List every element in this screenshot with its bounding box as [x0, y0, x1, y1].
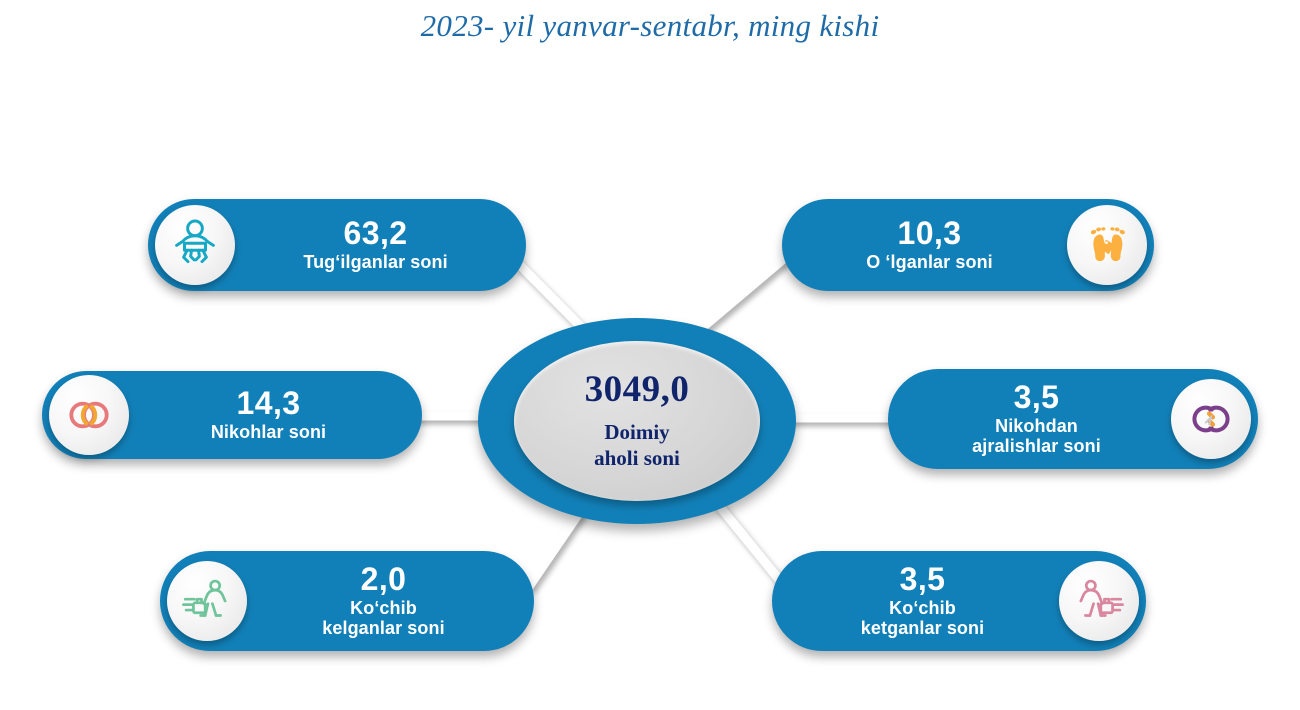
node-births-label: Tug‘ilganlar soni: [241, 252, 510, 272]
node-divorces[interactable]: 3,5 Nikohdan ajralishlar soni: [888, 369, 1258, 469]
node-emigration-label: Ko‘chib ketganlar soni: [792, 598, 1053, 638]
hub-label: Doimiy aholi soni: [594, 420, 680, 471]
broken-rings-icon: [1171, 379, 1251, 459]
node-divorces-label: Nikohdan ajralishlar soni: [908, 416, 1165, 456]
node-emigration-label-line1: Ko‘chib: [792, 598, 1053, 618]
node-deaths[interactable]: 10,3 O ‘lganlar soni: [782, 199, 1154, 291]
node-deaths-label: O ‘lganlar soni: [798, 252, 1061, 272]
node-immigration[interactable]: 2,0 Ko‘chib kelganlar soni: [160, 551, 534, 651]
node-divorces-text: 3,5 Nikohdan ajralishlar soni: [902, 381, 1171, 456]
node-immigration-value: 2,0: [253, 563, 514, 597]
node-immigration-text: 2,0 Ko‘chib kelganlar soni: [247, 563, 520, 638]
node-marriages[interactable]: 14,3 Nikohlar soni: [42, 371, 422, 459]
hub-label-line2: aholi soni: [594, 446, 680, 472]
traveller-arriving-icon: [167, 561, 247, 641]
node-emigration-value: 3,5: [792, 563, 1053, 597]
node-births[interactable]: 63,2 Tug‘ilganlar soni: [148, 199, 526, 291]
node-marriages-value: 14,3: [135, 387, 402, 421]
node-emigration-text: 3,5 Ko‘chib ketganlar soni: [786, 563, 1059, 638]
node-deaths-text: 10,3 O ‘lganlar soni: [792, 217, 1067, 272]
node-deaths-value: 10,3: [798, 217, 1061, 251]
footprints-toe-tag-icon: [1067, 205, 1147, 285]
node-marriages-label: Nikohlar soni: [135, 422, 402, 442]
hub-value: 3049,0: [585, 371, 690, 408]
hub-inner-disc: 3049,0 Doimiy aholi soni: [514, 341, 760, 501]
page-title: 2023- yil yanvar-sentabr, ming kishi: [0, 8, 1300, 44]
node-births-text: 63,2 Tug‘ilganlar soni: [235, 217, 516, 272]
hub-label-line1: Doimiy: [594, 420, 680, 446]
node-emigration[interactable]: 3,5 Ko‘chib ketganlar soni: [772, 551, 1146, 651]
traveller-leaving-icon: [1059, 561, 1139, 641]
node-divorces-value: 3,5: [908, 381, 1165, 415]
node-immigration-label-line2: kelganlar soni: [253, 618, 514, 638]
node-marriages-text: 14,3 Nikohlar soni: [129, 387, 408, 442]
interlocking-rings-icon: [49, 375, 129, 455]
baby-icon: [155, 205, 235, 285]
infographic-canvas: 2023- yil yanvar-sentabr, ming kishi 304: [0, 0, 1300, 710]
node-births-value: 63,2: [241, 217, 510, 251]
node-divorces-label-line1: Nikohdan: [908, 416, 1165, 436]
node-immigration-label: Ko‘chib kelganlar soni: [253, 598, 514, 638]
node-emigration-label-line2: ketganlar soni: [792, 618, 1053, 638]
node-divorces-label-line2: ajralishlar soni: [908, 436, 1165, 456]
node-immigration-label-line1: Ko‘chib: [253, 598, 514, 618]
hub-total-population[interactable]: 3049,0 Doimiy aholi soni: [478, 318, 796, 524]
